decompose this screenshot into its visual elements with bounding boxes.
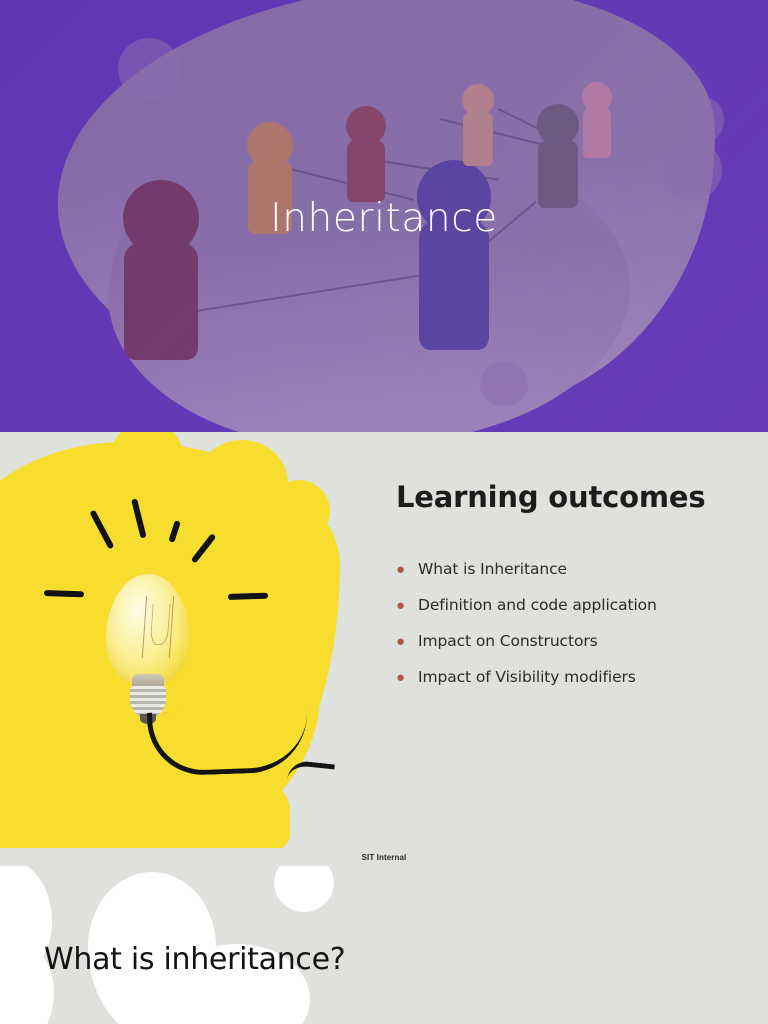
- lightbulb-icon: [96, 574, 200, 724]
- slide-inheritance-title[interactable]: Inheritance: [0, 0, 768, 432]
- bullet-marker-icon: ●: [396, 632, 418, 651]
- slide-learning-outcomes[interactable]: Learning outcomes ● What is Inheritance …: [0, 432, 768, 866]
- yellow-dot: [268, 480, 330, 542]
- slide-footer: SIT Internal: [0, 848, 768, 866]
- decorative-circle: [480, 362, 528, 406]
- bullet-marker-icon: ●: [396, 668, 418, 687]
- white-blob-shape: [274, 866, 334, 912]
- slide-deck: Inheritance: [0, 0, 768, 1024]
- bulb-filament: [142, 596, 174, 658]
- bullet-marker-icon: ●: [396, 560, 418, 579]
- list-item: ● Definition and code application: [396, 596, 746, 615]
- list-item-label: Definition and code application: [418, 596, 657, 615]
- list-item-label: Impact on Constructors: [418, 632, 598, 651]
- outcomes-heading: Learning outcomes: [396, 480, 746, 514]
- list-item: ● Impact of Visibility modifiers: [396, 668, 746, 687]
- outcomes-bullet-list: ● What is Inheritance ● Definition and c…: [396, 560, 746, 687]
- decorative-circle: [118, 38, 180, 100]
- list-item: ● Impact on Constructors: [396, 632, 746, 651]
- list-item-label: What is Inheritance: [418, 560, 567, 579]
- footer-label: SIT Internal: [362, 853, 407, 862]
- bullet-marker-icon: ●: [396, 596, 418, 615]
- decorative-circle: [688, 98, 724, 142]
- decorative-circle: [662, 140, 722, 200]
- lightbulb-illustration: [0, 432, 400, 852]
- what-is-inheritance-heading: What is inheritance?: [44, 942, 644, 977]
- list-item-label: Impact of Visibility modifiers: [418, 668, 636, 687]
- list-item: ● What is Inheritance: [396, 560, 746, 579]
- page-title: Inheritance: [0, 196, 768, 241]
- outcomes-content: Learning outcomes ● What is Inheritance …: [396, 480, 746, 704]
- bulb-glass: [106, 574, 190, 686]
